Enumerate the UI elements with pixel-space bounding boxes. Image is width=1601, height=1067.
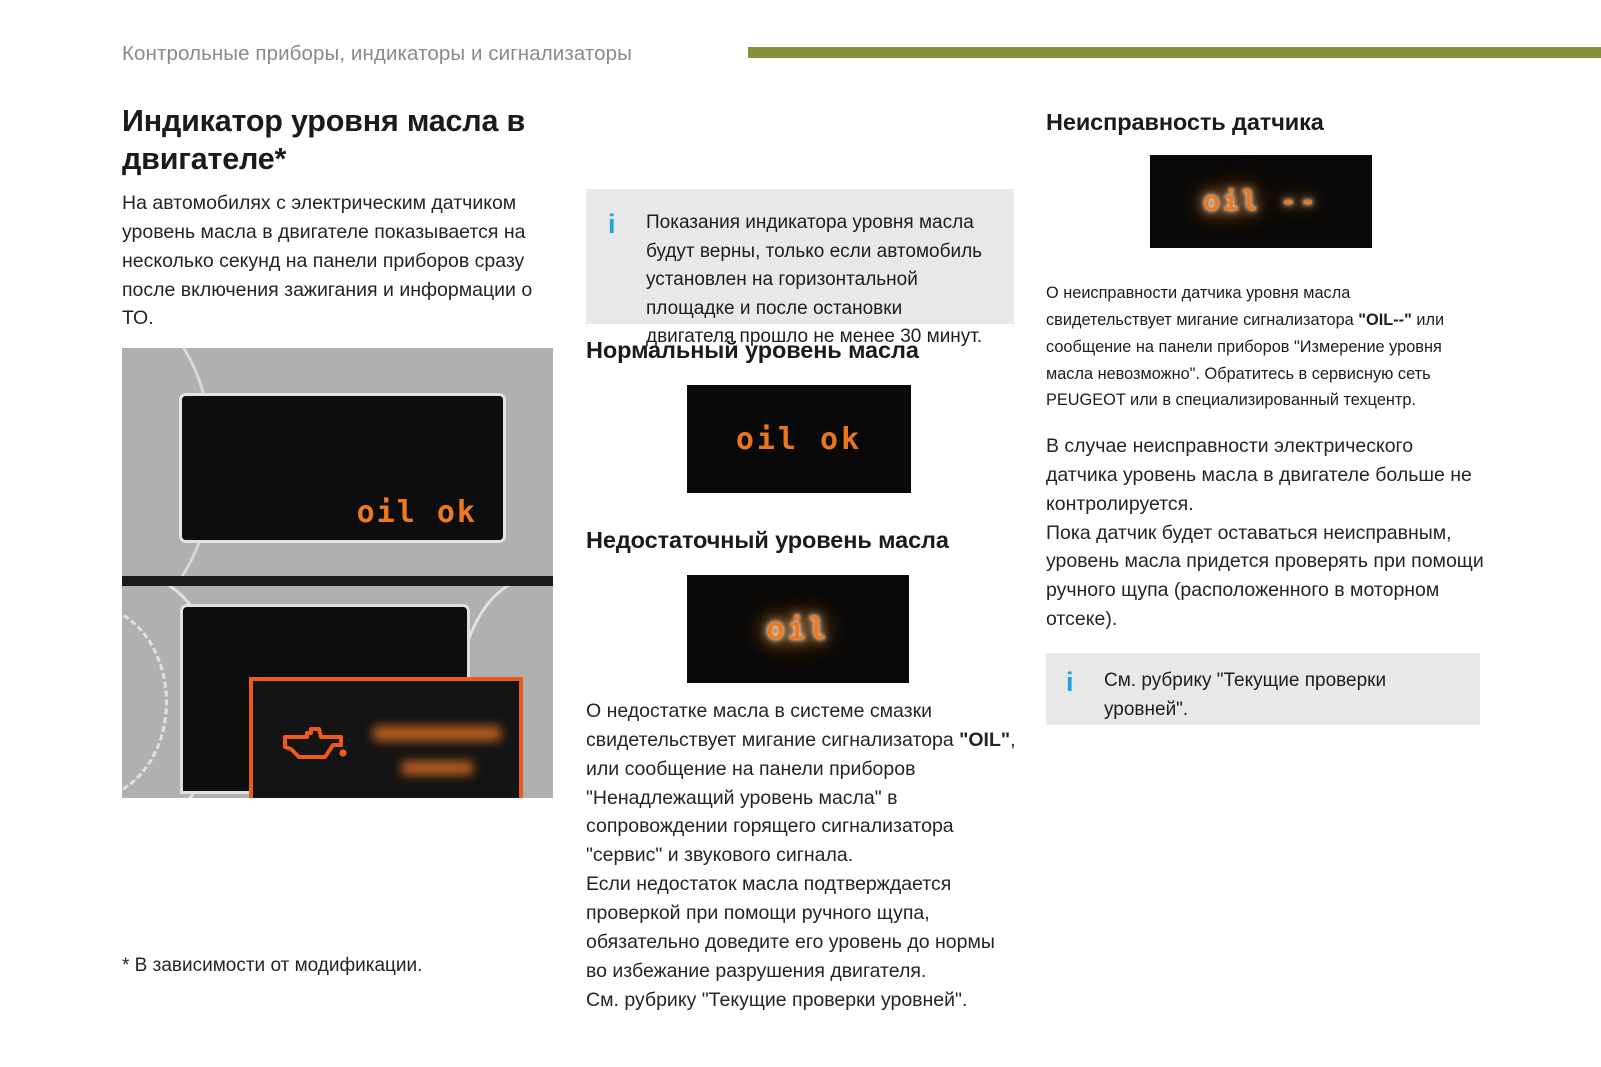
fault-text-part1: О неисправности датчика уровня масла сви… [1046, 283, 1358, 329]
display-normal-oil-level: oil ok [687, 385, 911, 493]
display-insufficient-text: oil [766, 612, 829, 647]
heading-normal-oil-level: Нормальный уровень масла [586, 337, 919, 364]
fault-text-bold: "OIL--" [1358, 310, 1412, 329]
footnote-modification: * В зависимости от модификации. [122, 955, 422, 977]
right-body-paragraph-2: Пока датчик будет оставаться неисправным… [1046, 522, 1484, 631]
info-callout-measurement-conditions: i Показания индикатора уровня масла буду… [586, 189, 1014, 324]
photo-lower-panel [122, 586, 553, 798]
info-icon: i [608, 211, 630, 304]
page-title: Индикатор уровня масла в двигателе* [122, 103, 562, 179]
sensor-fault-description: О неисправности датчика уровня масла сви… [1046, 280, 1466, 414]
display-fault-text: oil -- [1203, 186, 1319, 217]
display-insufficient-oil-level: oil [687, 575, 909, 683]
lcd-screen-frame: oil ok [179, 393, 506, 543]
heading-insufficient-oil-level: Недостаточный уровень масла [586, 527, 949, 554]
photo-upper-panel: oil ok [122, 348, 553, 576]
display-normal-text: oil ok [736, 422, 862, 457]
mid-body-part3: Если недостаток масла подтверждается про… [586, 873, 995, 982]
info-callout-right-text: См. рубрику "Текущие проверки уровней". [1088, 667, 1460, 711]
lcd-oil-ok-text: oil ok [357, 498, 477, 528]
info-icon: i [1066, 669, 1088, 711]
oil-warning-message-box [249, 677, 523, 798]
display-sensor-fault: oil -- [1150, 155, 1372, 248]
photo-separator-bar [122, 576, 553, 586]
header-accent-rule [748, 47, 1601, 58]
lcd-screen-surface: oil ok [182, 396, 503, 540]
right-body-paragraph-1: В случае неисправности электрического да… [1046, 435, 1472, 515]
info-callout-text: Показания индикатора уровня масла будут … [630, 209, 992, 304]
instrument-cluster-photo: oil ok [122, 348, 553, 798]
middle-body-text: О недостатке масла в системе смазки свид… [586, 697, 1016, 1014]
mid-body-part1: О недостатке масла в системе смазки свид… [586, 700, 959, 751]
mid-body-oil-bold: "OIL" [959, 729, 1010, 751]
blurred-message-line-1 [373, 726, 501, 741]
blurred-message-line-2 [401, 761, 473, 775]
cluster-message-screen [180, 604, 470, 794]
oil-can-icon [281, 719, 353, 765]
info-callout-see-section: i См. рубрику "Текущие проверки уровней"… [1046, 653, 1480, 725]
mid-body-part4: См. рубрику "Текущие проверки уровней". [586, 989, 967, 1011]
sensor-fault-consequences: В случае неисправности электрического да… [1046, 432, 1484, 634]
intro-paragraph: На автомобилях с электрическим датчиком … [122, 189, 562, 333]
heading-sensor-fault: Неисправность датчика [1046, 109, 1324, 136]
page-header-title: Контрольные приборы, индикаторы и сигнал… [122, 42, 632, 66]
